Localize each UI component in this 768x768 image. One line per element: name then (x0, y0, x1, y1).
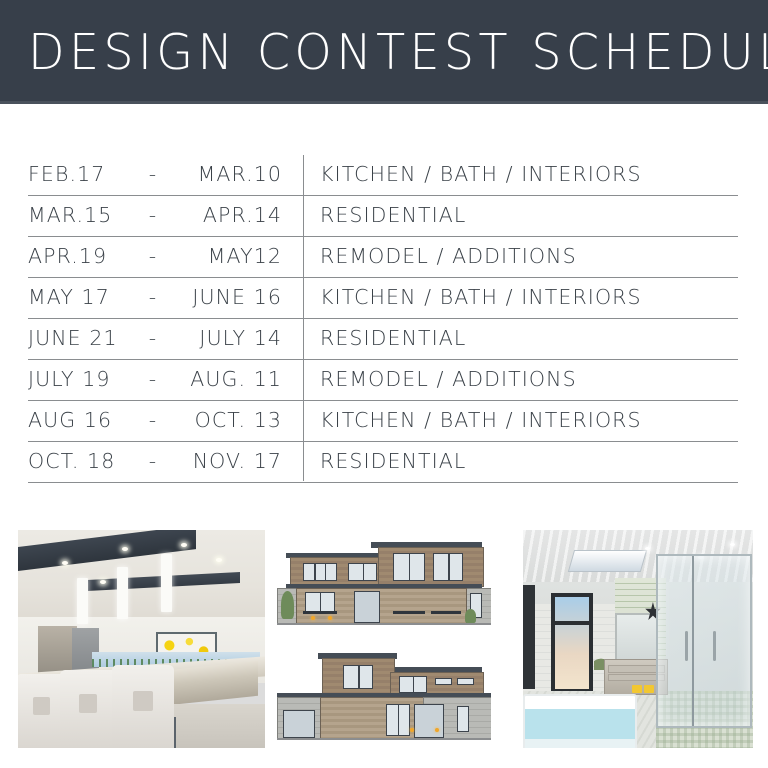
kitchen-downlight (62, 561, 68, 565)
bathroom-glass-shower (656, 554, 752, 728)
category-cell: KITCHEN / BATH / INTERIORS (290, 408, 642, 434)
table-row: MAY 17 - JUNE 16 KITCHEN / BATH / INTERI… (28, 278, 738, 319)
date-end: MAR.10 (170, 162, 290, 186)
date-range-cell: MAY 17 - JUNE 16 (28, 285, 290, 311)
kitchen-pendant-light (77, 578, 88, 624)
rear-elevation-drawing (277, 646, 491, 744)
elevation-ground-line (277, 623, 491, 625)
bathroom-towel (632, 685, 642, 693)
elevation-awning (303, 611, 337, 614)
date-dash: - (136, 449, 170, 473)
bathroom-interior-render (523, 530, 753, 748)
date-start: FEB.17 (28, 162, 136, 186)
date-start: JUNE 21 (28, 326, 136, 350)
category-cell: KITCHEN / BATH / INTERIORS (290, 162, 642, 188)
table-row: JULY 19 - AUG. 11 REMODEL / ADDITIONS (28, 360, 738, 401)
page-header: DESIGN CONTEST SCHEDULE (0, 0, 768, 104)
bathroom-door-frame (523, 585, 535, 690)
elevation-light-glow (311, 616, 315, 620)
date-dash: - (136, 162, 170, 186)
elevation-shrub (281, 591, 294, 618)
date-dash: - (136, 203, 170, 227)
date-dash: - (136, 244, 170, 268)
date-dash: - (136, 326, 170, 350)
elevation-shrub (465, 609, 476, 623)
elevation-entry-door (354, 591, 380, 622)
date-dash: - (136, 408, 170, 432)
category-cell: KITCHEN / BATH / INTERIORS (290, 285, 642, 311)
date-end: JUNE 16 (170, 285, 290, 309)
elevation-window (457, 678, 474, 685)
elevation-awning (431, 611, 461, 614)
elevation-light-glow (410, 728, 414, 732)
table-row: AUG 16 - OCT. 13 KITCHEN / BATH / INTERI… (28, 401, 738, 442)
date-start: MAR.15 (28, 203, 136, 227)
schedule-table: FEB.17 - MAR.10 KITCHEN / BATH / INTERIO… (28, 155, 738, 483)
category-cell: REMODEL / ADDITIONS (290, 244, 577, 270)
table-row: FEB.17 - MAR.10 KITCHEN / BATH / INTERIO… (28, 155, 738, 196)
page-title: DESIGN CONTEST SCHEDULE (28, 25, 768, 81)
date-end: APR.14 (170, 203, 290, 227)
kitchen-pendant-light (161, 554, 172, 612)
elevation-window (435, 678, 452, 685)
date-start: OCT. 18 (28, 449, 136, 473)
date-start: MAY 17 (28, 285, 136, 309)
date-end: AUG. 11 (170, 367, 290, 391)
elevation-patio-door (414, 704, 444, 737)
table-row: MAR.15 - APR.14 RESIDENTIAL (28, 196, 738, 237)
bathroom-window-transom (555, 621, 590, 625)
date-range-cell: AUG 16 - OCT. 13 (28, 408, 290, 434)
elevation-window (305, 592, 335, 612)
elevation-window (393, 553, 425, 581)
category-cell: RESIDENTIAL (290, 326, 466, 352)
bathroom-window (551, 593, 594, 693)
date-dash: - (136, 367, 170, 391)
elevation-window (303, 563, 337, 582)
date-range-cell: JUNE 21 - JULY 14 (28, 326, 290, 352)
elevation-window (343, 665, 373, 689)
elevation-window (457, 706, 470, 732)
date-dash: - (136, 285, 170, 309)
date-range-cell: JULY 19 - AUG. 11 (28, 367, 290, 393)
bathroom-soaking-tub (523, 694, 637, 748)
date-end: OCT. 13 (170, 408, 290, 432)
date-range-cell: OCT. 18 - NOV. 17 (28, 449, 290, 475)
kitchen-pendant-light (117, 567, 128, 619)
date-end: JULY 14 (170, 326, 290, 350)
date-start: JULY 19 (28, 367, 136, 391)
bathroom-shower-handle (713, 631, 716, 662)
kitchen-downlight (100, 580, 106, 584)
bathroom-skylight (568, 550, 647, 572)
home-elevation-drawings (277, 530, 491, 748)
image-gallery (0, 530, 768, 750)
elevation-window (348, 563, 378, 582)
table-row: APR.19 - MAY12 REMODEL / ADDITIONS (28, 237, 738, 278)
kitchen-interior-render (18, 530, 265, 748)
category-cell: RESIDENTIAL (290, 203, 466, 229)
elevation-window (399, 676, 427, 693)
date-end: MAY12 (170, 244, 290, 268)
elevation-window (433, 553, 463, 581)
kitchen-barstool (112, 665, 174, 748)
bathroom-mirror (615, 613, 658, 665)
bathroom-shower-handle (685, 631, 688, 662)
category-cell: RESIDENTIAL (290, 449, 466, 475)
table-row: JUNE 21 - JULY 14 RESIDENTIAL (28, 319, 738, 360)
elevation-ground-line (277, 738, 491, 740)
elevation-window (386, 704, 409, 735)
date-start: AUG 16 (28, 408, 136, 432)
date-range-cell: FEB.17 - MAR.10 (28, 162, 290, 188)
front-elevation-drawing (277, 534, 491, 632)
category-cell: REMODEL / ADDITIONS (290, 367, 577, 393)
date-range-cell: APR.19 - MAY12 (28, 244, 290, 270)
date-end: NOV. 17 (170, 449, 290, 473)
bathroom-shower-corner (692, 556, 695, 726)
elevation-garage-door (283, 710, 315, 738)
table-row: OCT. 18 - NOV. 17 RESIDENTIAL (28, 442, 738, 483)
kitchen-barstool (60, 670, 117, 748)
bathroom-towel (644, 685, 654, 693)
elevation-awning (393, 611, 425, 614)
date-range-cell: MAR.15 - APR.14 (28, 203, 290, 229)
date-start: APR.19 (28, 244, 136, 268)
